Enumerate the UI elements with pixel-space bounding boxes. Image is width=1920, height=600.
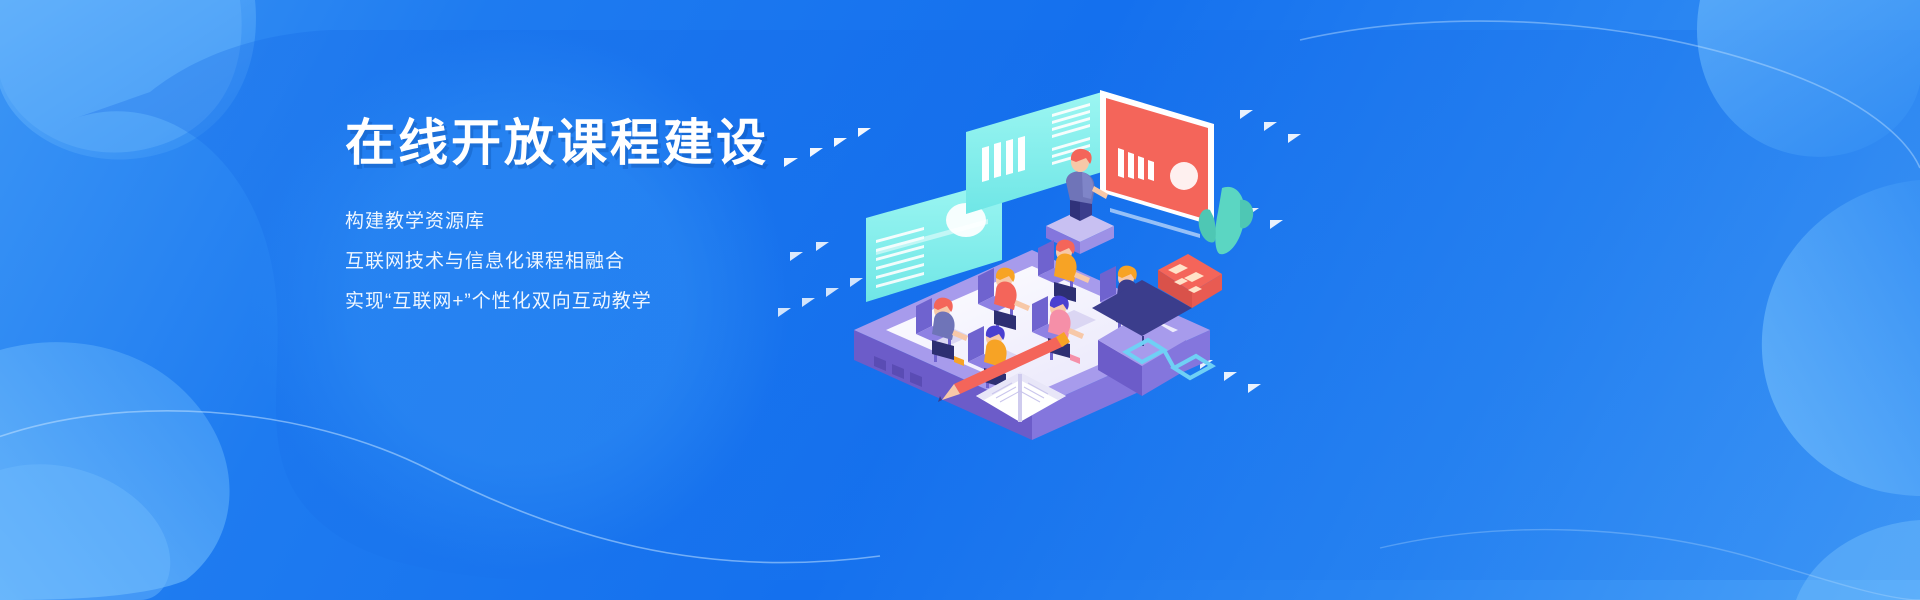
arrow-particles-right xyxy=(1200,110,1301,393)
banner: 在线开放课程建设 构建教学资源库 互联网技术与信息化课程相融合 实现“互联网+”… xyxy=(0,0,1920,600)
online-classroom-illustration xyxy=(770,40,1330,440)
presentation-board xyxy=(1100,90,1214,238)
